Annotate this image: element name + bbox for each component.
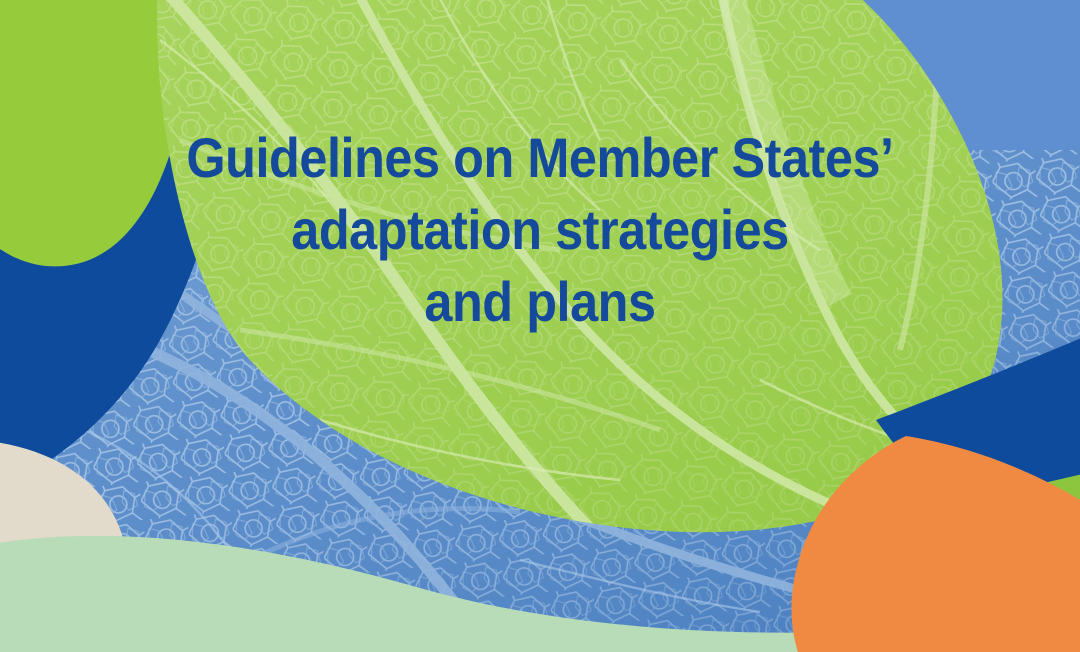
cover-page: Guidelines on Member States’ adaptation … (0, 0, 1080, 652)
cover-artwork (0, 0, 1080, 652)
